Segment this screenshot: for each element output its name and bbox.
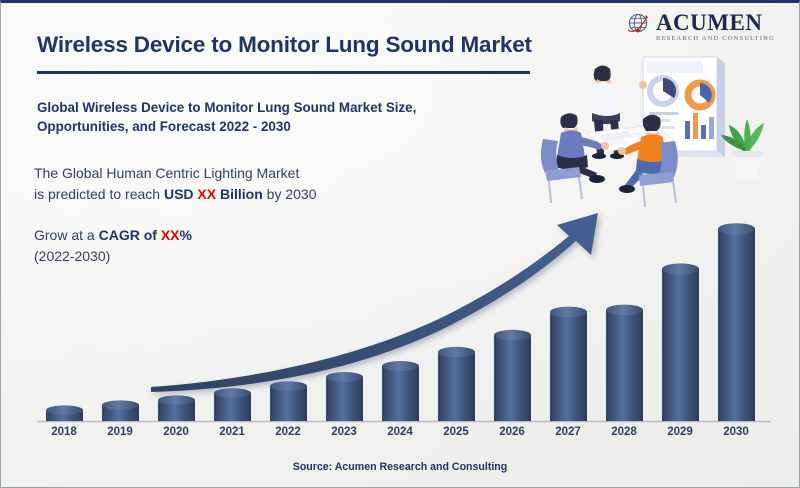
cagr-pre: Grow at a (34, 227, 99, 243)
subtitle: Global Wireless Device to Monitor Lung S… (37, 98, 457, 137)
bar-2030 (718, 223, 755, 421)
axis-label-2024: 2024 (373, 426, 427, 438)
axis-label-2025: 2025 (429, 426, 483, 438)
bar-2020 (158, 395, 195, 421)
axis-label-2027: 2027 (541, 426, 595, 438)
paragraph-billion: Billion (216, 186, 263, 202)
paragraph-pre: is predicted to reach (34, 186, 164, 202)
cagr-percent: % (180, 227, 192, 243)
axis-label-2023: 2023 (317, 426, 371, 438)
cagr-label: CAGR of (99, 227, 161, 243)
acumen-logo: ACUMEN RESEARCH AND CONSULTING (625, 11, 775, 42)
axis-label-2026: 2026 (485, 426, 539, 438)
logo-tagline: RESEARCH AND CONSULTING (656, 36, 775, 42)
page-title: Wireless Device to Monitor Lung Sound Ma… (37, 33, 557, 58)
paragraph-usd: USD (164, 186, 197, 202)
logo-name: ACUMEN (656, 11, 775, 34)
infographic-canvas: ACUMEN RESEARCH AND CONSULTING Wireless … (0, 0, 800, 488)
business-meeting-illustration (535, 55, 785, 210)
bar-2018 (46, 405, 83, 421)
axis-label-2019: 2019 (93, 426, 147, 438)
bar-2026 (494, 330, 531, 421)
title-divider (37, 71, 530, 74)
source-credit: Source: Acumen Research and Consulting (1, 461, 799, 473)
bar-2025 (438, 347, 475, 421)
bar-2028 (606, 308, 643, 421)
axis-label-2018: 2018 (37, 426, 91, 438)
cagr-block: Grow at a CAGR of XX% (2022-2030) (34, 225, 364, 267)
axis-label-2021: 2021 (205, 426, 259, 438)
axis-label-2029: 2029 (653, 426, 707, 438)
cagr-value: XX (161, 227, 180, 243)
logo-wordmark: ACUMEN RESEARCH AND CONSULTING (656, 11, 775, 42)
globe-icon (625, 11, 651, 42)
subtitle-line-1: Global Wireless Device to Monitor Lung S… (37, 100, 416, 115)
axis-label-2022: 2022 (261, 426, 315, 438)
cagr-period: (2022-2030) (34, 248, 110, 264)
bar-2023 (326, 372, 363, 421)
bar-2029 (662, 263, 699, 421)
bar-2022 (270, 381, 307, 421)
axis-label-2028: 2028 (597, 426, 651, 438)
axis-label-2030: 2030 (709, 426, 763, 438)
subtitle-line-2: Opportunities, and Forecast 2022 - 2030 (37, 119, 291, 134)
forecast-paragraph: The Global Human Centric Lighting Market… (34, 163, 434, 205)
paragraph-line-1: The Global Human Centric Lighting Market (34, 165, 299, 181)
bar-2024 (382, 361, 419, 421)
bar-2021 (214, 388, 251, 421)
axis-label-2020: 2020 (149, 426, 203, 438)
bar-2019 (102, 400, 139, 421)
bar-2027 (550, 307, 587, 421)
paragraph-post: by 2030 (263, 186, 317, 202)
paragraph-xx-value: XX (197, 186, 216, 202)
